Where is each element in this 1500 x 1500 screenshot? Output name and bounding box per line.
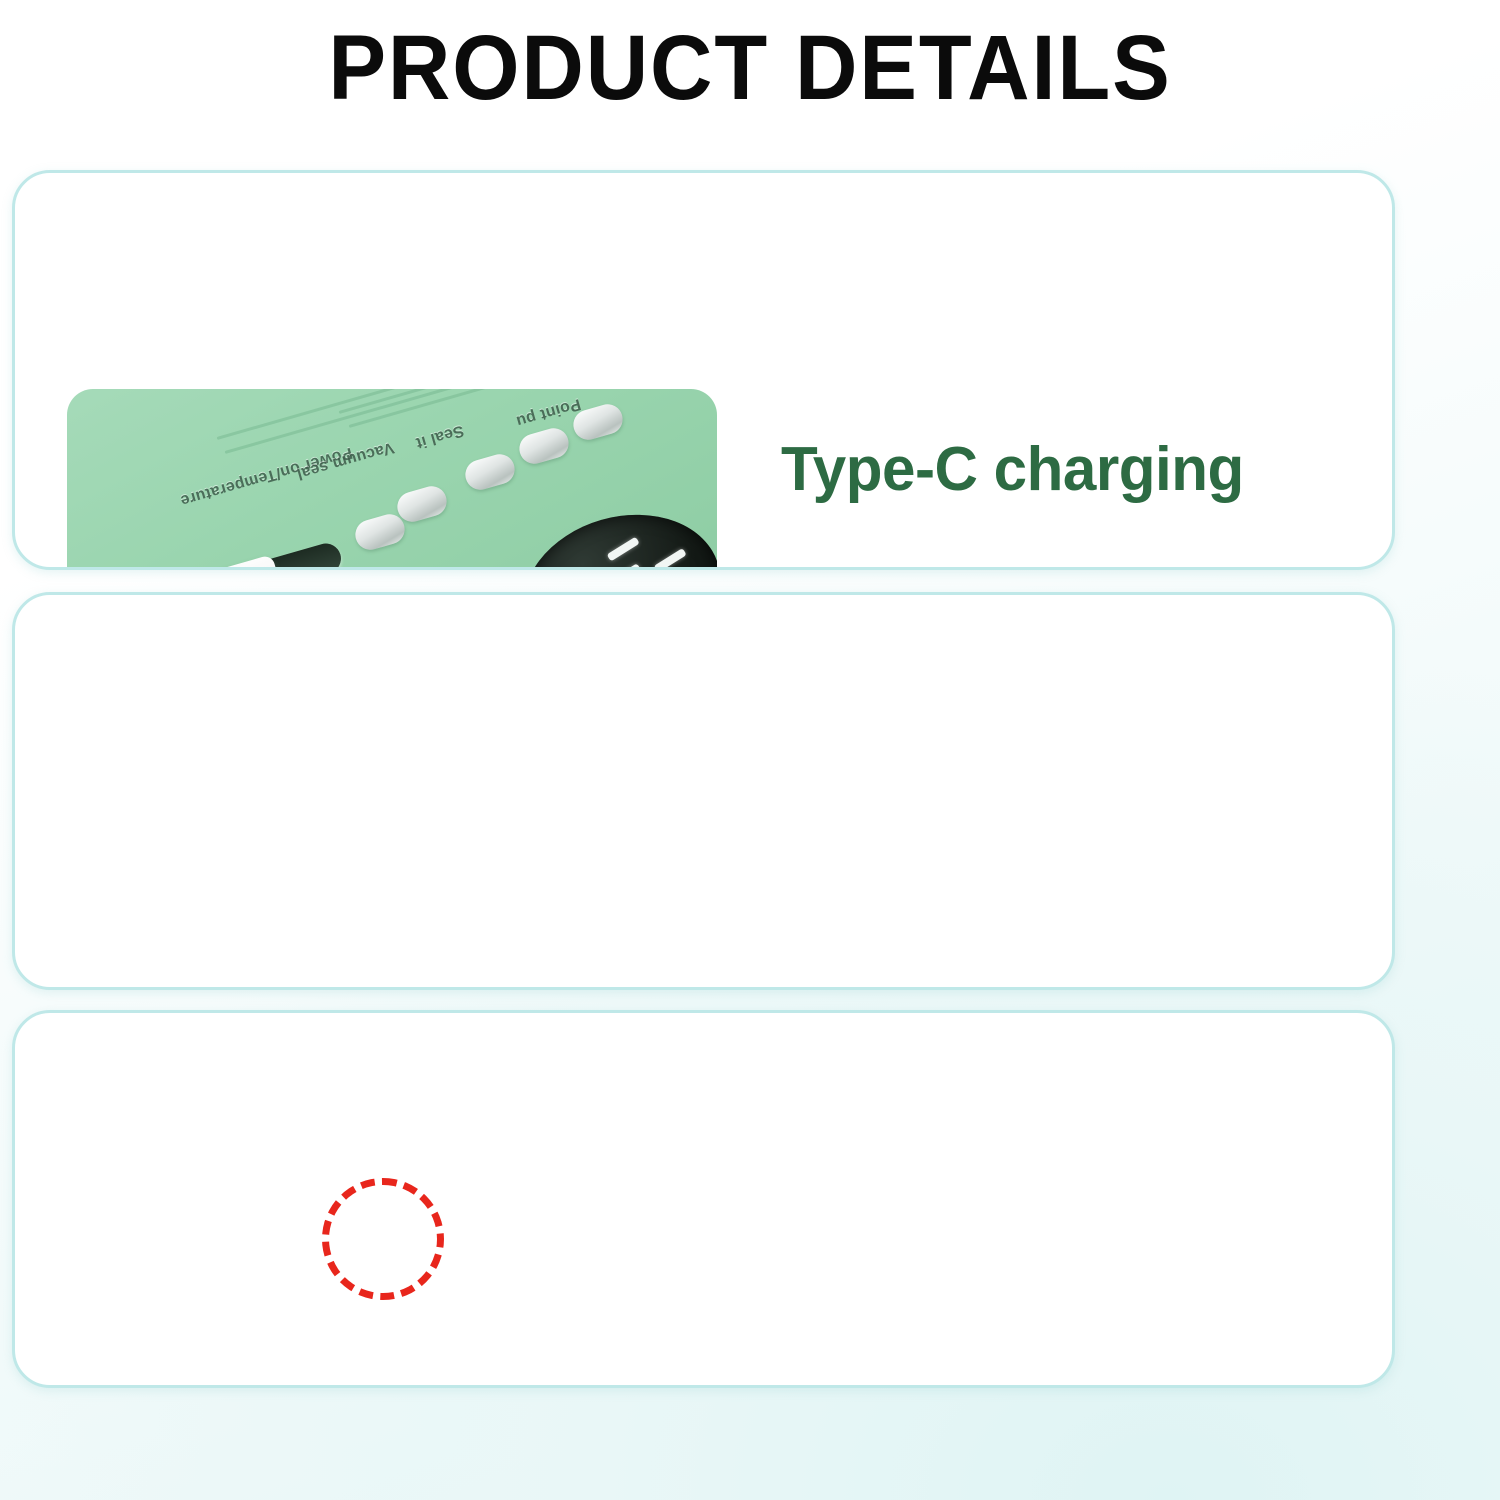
led-segment — [607, 537, 640, 562]
led-segment — [608, 563, 641, 570]
vacuum-sealer-usb-c-port-photo: Power on/Temperature Vacuum seal Seal it… — [67, 389, 717, 570]
product-details-page: PRODUCT DETAILS Power on/Temperature Vac… — [0, 0, 1500, 1500]
detail-card-type-c-charging: Power on/Temperature Vacuum seal Seal it… — [12, 170, 1395, 570]
led-segment — [654, 548, 687, 570]
card-1-heading: Type-C charging — [781, 435, 1244, 504]
red-dashed-highlight-circle — [322, 1178, 444, 1300]
detail-card-bag-clip-design: Bag clip design Card bag mouth, accurate… — [12, 1010, 1395, 1388]
detail-card-outer-joint: Outer joint Replace the external joint, … — [12, 592, 1395, 990]
usb-c-plug-tip — [252, 569, 301, 570]
page-title: PRODUCT DETAILS — [45, 18, 1455, 119]
card-1-text: Type-C charging — [781, 435, 1258, 504]
